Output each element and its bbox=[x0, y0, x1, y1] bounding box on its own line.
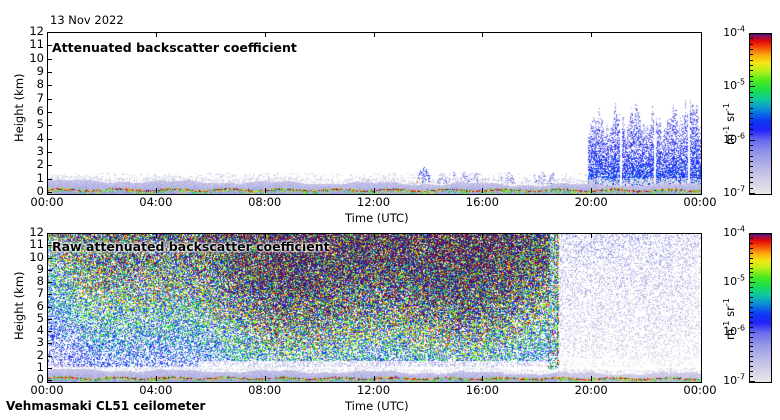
x-axis-label-panel2: Time (UTC) bbox=[345, 399, 409, 413]
colorbar-tick-mark bbox=[750, 258, 753, 259]
colorbar-tick-mark bbox=[750, 361, 753, 362]
y-tick-mark bbox=[47, 72, 52, 73]
y-tick-mark bbox=[47, 125, 52, 126]
colorbar-tick-mark bbox=[750, 346, 753, 347]
colorbar-tick-mark bbox=[750, 76, 753, 77]
colorbar-tick-mark bbox=[750, 124, 753, 125]
colorbar-tick-mark bbox=[750, 263, 753, 264]
colorbar-tick-mark bbox=[750, 86, 755, 87]
y-tick-mark bbox=[47, 331, 52, 332]
y-tick-mark bbox=[47, 152, 52, 153]
x-tick-mark bbox=[265, 32, 266, 37]
colorbar-tick-mark bbox=[750, 177, 753, 178]
y-tick-mark bbox=[47, 282, 52, 283]
colorbar-label-panel1: m-1 sr-1 bbox=[723, 103, 737, 145]
x-tick-mark bbox=[591, 32, 592, 37]
y-tick-mark bbox=[47, 368, 52, 369]
plot-date-label: 13 Nov 2022 bbox=[50, 13, 124, 27]
heatmap-canvas-attenuated bbox=[48, 33, 701, 194]
y-tick-label: 6 bbox=[20, 106, 44, 118]
colorbar-tick-mark bbox=[750, 292, 753, 293]
colorbar-tick-mark bbox=[750, 60, 753, 61]
y-tick-label: 3 bbox=[20, 146, 44, 158]
colorbar-tick-mark bbox=[750, 351, 753, 352]
colorbar-tick-mark bbox=[750, 356, 753, 357]
colorbar-tick-mark bbox=[750, 161, 753, 162]
y-tick-label: 11 bbox=[20, 39, 44, 51]
colorbar-tick-mark bbox=[750, 238, 753, 239]
colorbar-tick-mark bbox=[750, 145, 753, 146]
colorbar-tick-mark bbox=[750, 277, 753, 278]
colorbar-tick-mark bbox=[750, 81, 753, 82]
colorbar-tick-mark bbox=[750, 33, 755, 34]
colorbar-tick-mark bbox=[750, 108, 753, 109]
panel-attenuated-backscatter[interactable] bbox=[47, 32, 702, 195]
x-tick-mark bbox=[265, 376, 266, 381]
colorbar-tick-mark bbox=[750, 332, 755, 333]
x-tick-label: 04:00 bbox=[126, 385, 186, 397]
colorbar-tick-mark bbox=[750, 253, 753, 254]
y-tick-mark bbox=[47, 319, 52, 320]
y-tick-mark bbox=[47, 356, 52, 357]
x-axis-label-panel1: Time (UTC) bbox=[345, 211, 409, 225]
colorbar-tick-mark bbox=[750, 102, 753, 103]
footer-site-label: Vehmasmaki CL51 ceilometer bbox=[6, 399, 205, 413]
x-tick-label: 00:00 bbox=[17, 197, 77, 209]
x-tick-mark bbox=[374, 376, 375, 381]
colorbar-tick-mark bbox=[750, 376, 753, 377]
colorbar-tick-mark bbox=[750, 118, 753, 119]
x-tick-mark bbox=[374, 188, 375, 193]
y-tick-label: 4 bbox=[20, 133, 44, 145]
colorbar-tick-mark bbox=[750, 307, 753, 308]
colorbar-tick-label: 10-7 bbox=[705, 186, 745, 199]
colorbar-tick-mark bbox=[750, 193, 755, 194]
x-tick-mark bbox=[482, 32, 483, 37]
colorbar-tick-mark bbox=[750, 233, 755, 234]
y-tick-mark bbox=[47, 233, 52, 234]
x-tick-label: 16:00 bbox=[452, 197, 512, 209]
panel-raw-attenuated-backscatter[interactable] bbox=[47, 233, 702, 383]
colorbar-tick-mark bbox=[750, 182, 753, 183]
x-tick-mark bbox=[374, 233, 375, 238]
y-tick-mark bbox=[47, 270, 52, 271]
y-tick-mark bbox=[47, 139, 52, 140]
panel-title-attenuated: Attenuated backscatter coefficient bbox=[52, 40, 297, 55]
x-tick-mark bbox=[265, 188, 266, 193]
y-tick-label: 1 bbox=[20, 173, 44, 185]
colorbar-tick-mark bbox=[750, 38, 753, 39]
colorbar-tick-mark bbox=[750, 297, 753, 298]
colorbar-tick-mark bbox=[750, 302, 753, 303]
colorbar-tick-mark bbox=[750, 172, 753, 173]
y-axis-ticks-panel1: 1211109876543210 bbox=[18, 32, 44, 193]
colorbar-tick-mark bbox=[750, 65, 753, 66]
colorbar-tick-mark bbox=[750, 322, 753, 323]
x-tick-mark bbox=[265, 233, 266, 238]
colorbar-tick-label: 10-5 bbox=[705, 275, 745, 288]
y-tick-mark bbox=[47, 294, 52, 295]
colorbar-tick-mark bbox=[750, 97, 753, 98]
colorbar-tick-mark bbox=[750, 243, 753, 244]
y-tick-mark bbox=[47, 179, 52, 180]
y-tick-label: 9 bbox=[20, 66, 44, 78]
y-tick-mark bbox=[47, 380, 52, 381]
y-tick-label: 8 bbox=[20, 79, 44, 91]
colorbar-tick-mark bbox=[750, 70, 753, 71]
x-tick-mark bbox=[591, 376, 592, 381]
colorbar-tick-mark bbox=[750, 371, 753, 372]
x-tick-label: 00:00 bbox=[17, 385, 77, 397]
colorbar-tick-mark bbox=[750, 92, 753, 93]
y-tick-mark bbox=[47, 85, 52, 86]
y-tick-mark bbox=[47, 112, 52, 113]
x-tick-mark bbox=[156, 376, 157, 381]
y-tick-label: 10 bbox=[20, 53, 44, 65]
colorbar-tick-mark bbox=[750, 342, 753, 343]
x-tick-mark bbox=[482, 233, 483, 238]
colorbar-tick-mark bbox=[750, 366, 753, 367]
colorbar-tick-label: 10-7 bbox=[705, 374, 745, 387]
colorbar-label-panel2: m-1 sr-1 bbox=[723, 298, 737, 340]
colorbar-tick-mark bbox=[750, 282, 755, 283]
y-tick-mark bbox=[47, 307, 52, 308]
x-tick-mark bbox=[591, 188, 592, 193]
colorbar-tick-mark bbox=[750, 129, 753, 130]
panel-title-raw: Raw attenuated backscatter coefficient bbox=[52, 239, 330, 254]
x-tick-mark bbox=[156, 233, 157, 238]
colorbar-tick-mark bbox=[750, 317, 753, 318]
colorbar-tick-label: 10-4 bbox=[705, 226, 745, 239]
colorbar-tick-mark bbox=[750, 44, 753, 45]
x-tick-label: 08:00 bbox=[235, 197, 295, 209]
y-tick-mark bbox=[47, 258, 52, 259]
x-tick-mark bbox=[156, 32, 157, 37]
colorbar-tick-label: 10-5 bbox=[705, 79, 745, 92]
y-tick-label: 12 bbox=[20, 26, 44, 38]
y-tick-mark bbox=[47, 59, 52, 60]
x-tick-mark bbox=[591, 233, 592, 238]
colorbar-tick-mark bbox=[750, 134, 753, 135]
x-tick-mark bbox=[374, 32, 375, 37]
colorbar-tick-mark bbox=[750, 312, 753, 313]
x-tick-label: 16:00 bbox=[452, 385, 512, 397]
colorbar-tick-mark bbox=[750, 272, 753, 273]
colorbar-tick-mark bbox=[750, 113, 753, 114]
x-tick-label: 12:00 bbox=[344, 385, 404, 397]
y-tick-mark bbox=[47, 165, 52, 166]
colorbar-tick-mark bbox=[750, 54, 753, 55]
colorbar-tick-mark bbox=[750, 166, 753, 167]
colorbar-tick-mark bbox=[750, 381, 755, 382]
y-tick-mark bbox=[47, 343, 52, 344]
colorbar-tick-mark bbox=[750, 327, 753, 328]
x-tick-mark bbox=[156, 188, 157, 193]
heatmap-canvas-raw bbox=[48, 234, 701, 382]
y-tick-label: 2 bbox=[20, 159, 44, 171]
x-tick-label: 12:00 bbox=[344, 197, 404, 209]
x-tick-label: 04:00 bbox=[126, 197, 186, 209]
colorbar-tick-mark bbox=[750, 140, 755, 141]
colorbar-tick-mark bbox=[750, 150, 753, 151]
y-tick-mark bbox=[47, 32, 52, 33]
colorbar-tick-mark bbox=[750, 49, 753, 50]
colorbar-tick-mark bbox=[750, 156, 753, 157]
y-tick-label: 5 bbox=[20, 119, 44, 131]
colorbar-tick-label: 10-4 bbox=[705, 26, 745, 39]
colorbar-tick-mark bbox=[750, 337, 753, 338]
x-tick-label: 20:00 bbox=[561, 197, 621, 209]
colorbar-tick-mark bbox=[750, 248, 753, 249]
x-tick-label: 20:00 bbox=[561, 385, 621, 397]
x-tick-label: 08:00 bbox=[235, 385, 295, 397]
colorbar-tick-mark bbox=[750, 188, 753, 189]
y-tick-label: 7 bbox=[20, 93, 44, 105]
y-tick-mark bbox=[47, 192, 52, 193]
x-tick-mark bbox=[482, 188, 483, 193]
y-tick-mark bbox=[47, 99, 52, 100]
colorbar-tick-mark bbox=[750, 287, 753, 288]
y-axis-ticks-panel2: 1211109876543210 bbox=[18, 233, 44, 381]
x-tick-mark bbox=[482, 376, 483, 381]
colorbar-tick-mark bbox=[750, 268, 753, 269]
